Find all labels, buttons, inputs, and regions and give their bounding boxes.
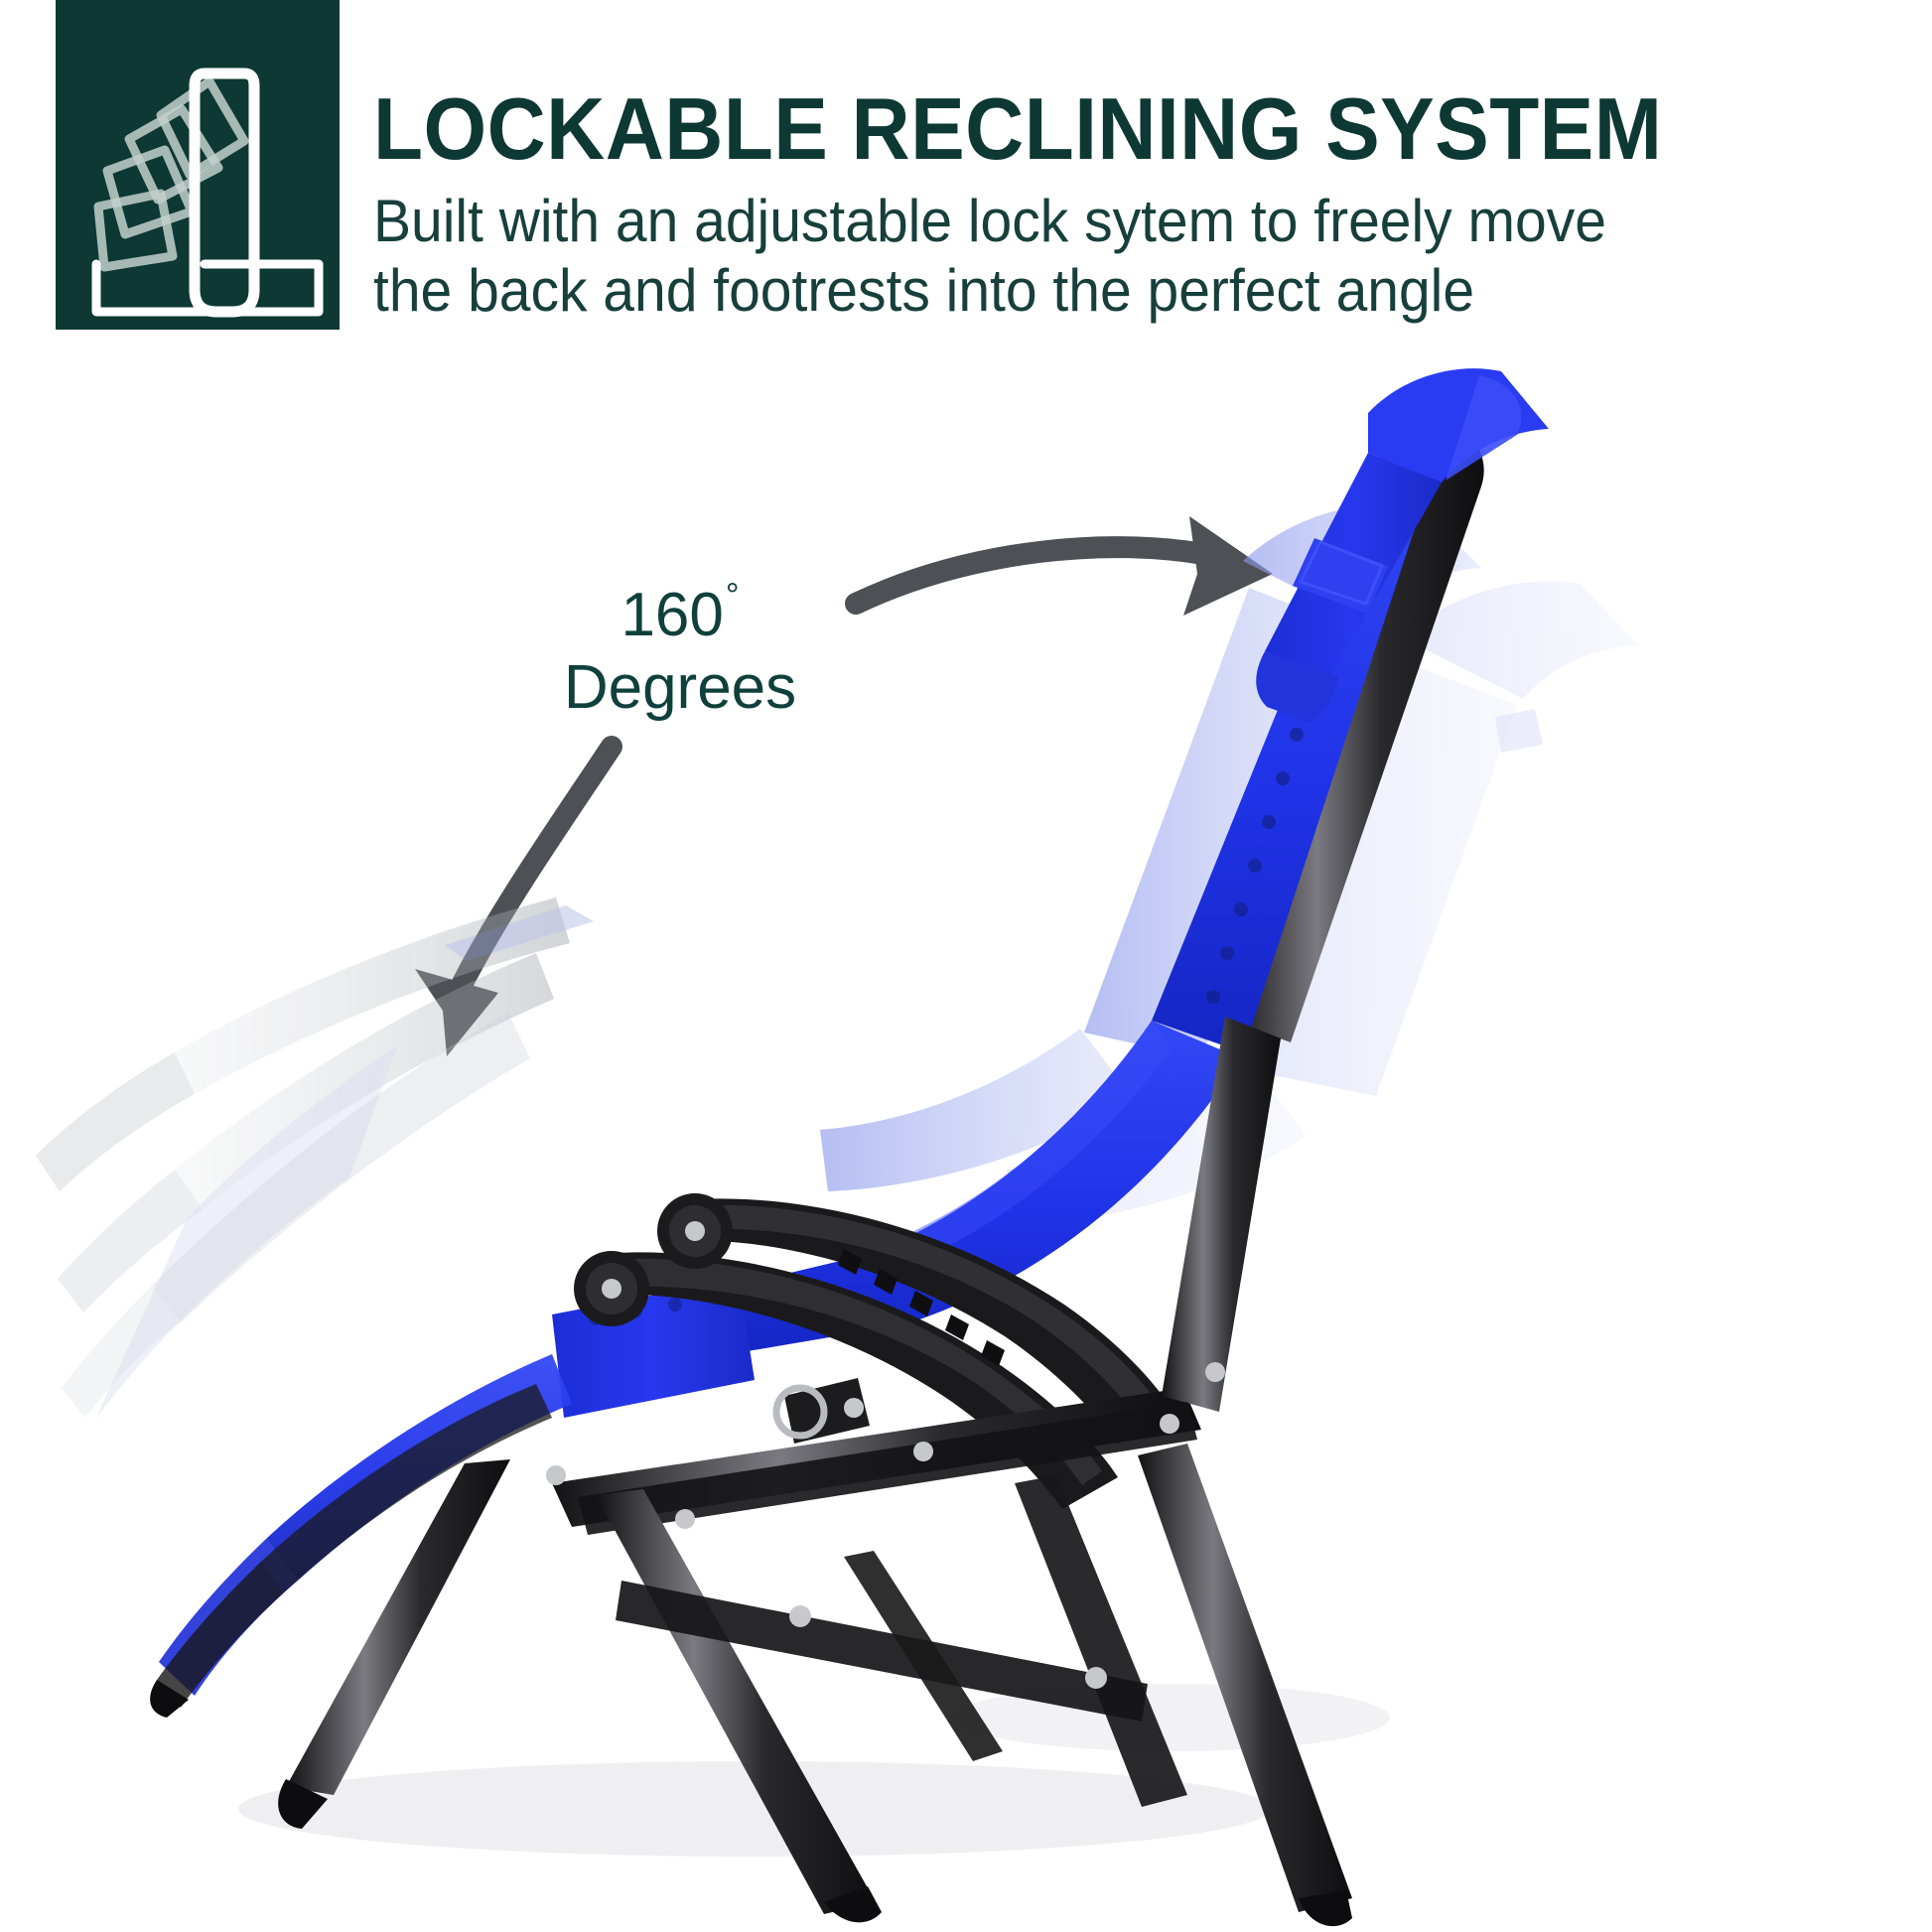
page-title: LOCKABLE RECLINING SYSTEM	[373, 85, 1767, 173]
rear-leg-inner	[1015, 1475, 1187, 1807]
page-subtitle: Built with an adjustable lock sytem to f…	[373, 187, 1807, 326]
subtitle-line-1: Built with an adjustable lock sytem to f…	[373, 188, 1606, 254]
armrest-pivot-joint-upper	[657, 1193, 733, 1269]
footrest-frame-tube	[262, 1384, 552, 1592]
feature-icon-box	[56, 0, 340, 330]
recline-lock-lever	[776, 1378, 870, 1444]
reclining-chair-angles-icon	[56, 0, 340, 330]
subtitle-line-2: the back and footrests into the perfect …	[373, 256, 1807, 326]
infographic-canvas: LOCKABLE RECLINING SYSTEM Built with an …	[0, 0, 1932, 1932]
product-image-reclining-chair	[0, 357, 1932, 1932]
rear-leg-right	[1138, 1444, 1352, 1912]
armrest-pivot-joint-lower	[574, 1251, 649, 1326]
